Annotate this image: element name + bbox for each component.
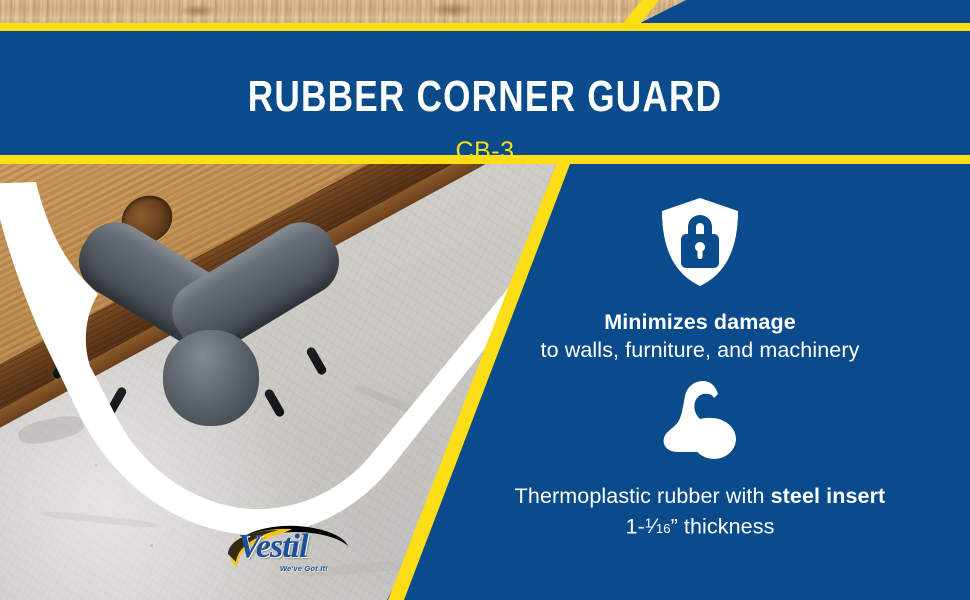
- vestil-tagline: We've Got It!: [280, 564, 328, 573]
- guard-corner-vertex: [163, 330, 259, 426]
- header-block: RUBBER CORNER GUARD CB-3: [0, 31, 970, 155]
- feature-1-headline: Minimizes damage: [430, 308, 970, 336]
- thickness-suffix: ” thickness: [671, 514, 775, 538]
- feature-2-line-prefix: Thermoplastic rubber with: [515, 484, 771, 508]
- thickness-denominator: 16: [656, 521, 671, 536]
- thickness-whole: 1-: [626, 514, 645, 538]
- wood-knot: [180, 4, 216, 18]
- feature-minimizes-damage: Minimizes damage to walls, furniture, an…: [430, 196, 970, 364]
- wood-knot: [430, 2, 474, 18]
- feature-2-line-strong: steel insert: [771, 484, 886, 508]
- feature-steel-insert: Thermoplastic rubber with steel insert 1…: [430, 376, 970, 543]
- header-yellow-underline: [0, 155, 970, 164]
- top-yellow-band: [0, 23, 970, 31]
- feature-2-thickness: 1-1⁄16” thickness: [430, 510, 970, 543]
- thickness-fraction: 1⁄16: [645, 515, 671, 538]
- feature-panel: Minimizes damage to walls, furniture, an…: [430, 164, 970, 600]
- flexed-bicep-icon: [656, 376, 744, 464]
- product-banner: RUBBER CORNER GUARD CB-3: [0, 0, 970, 600]
- guard-mount-slot: [263, 388, 286, 418]
- thickness-numerator: 1: [645, 516, 652, 531]
- feature-2-line-1: Thermoplastic rubber with steel insert: [430, 482, 970, 510]
- shield-lock-icon: [659, 196, 741, 288]
- page-title: RUBBER CORNER GUARD: [97, 75, 873, 119]
- guard-mount-slot: [305, 346, 328, 376]
- top-right-blue-wedge: [640, 0, 970, 23]
- feature-1-subline: to walls, furniture, and machinery: [430, 336, 970, 364]
- guard-mount-slot: [105, 386, 128, 416]
- vestil-logo: Vestil We've Got It!: [222, 524, 350, 584]
- vestil-wordmark: Vestil: [238, 530, 308, 564]
- rubber-corner-guard: [60, 284, 360, 514]
